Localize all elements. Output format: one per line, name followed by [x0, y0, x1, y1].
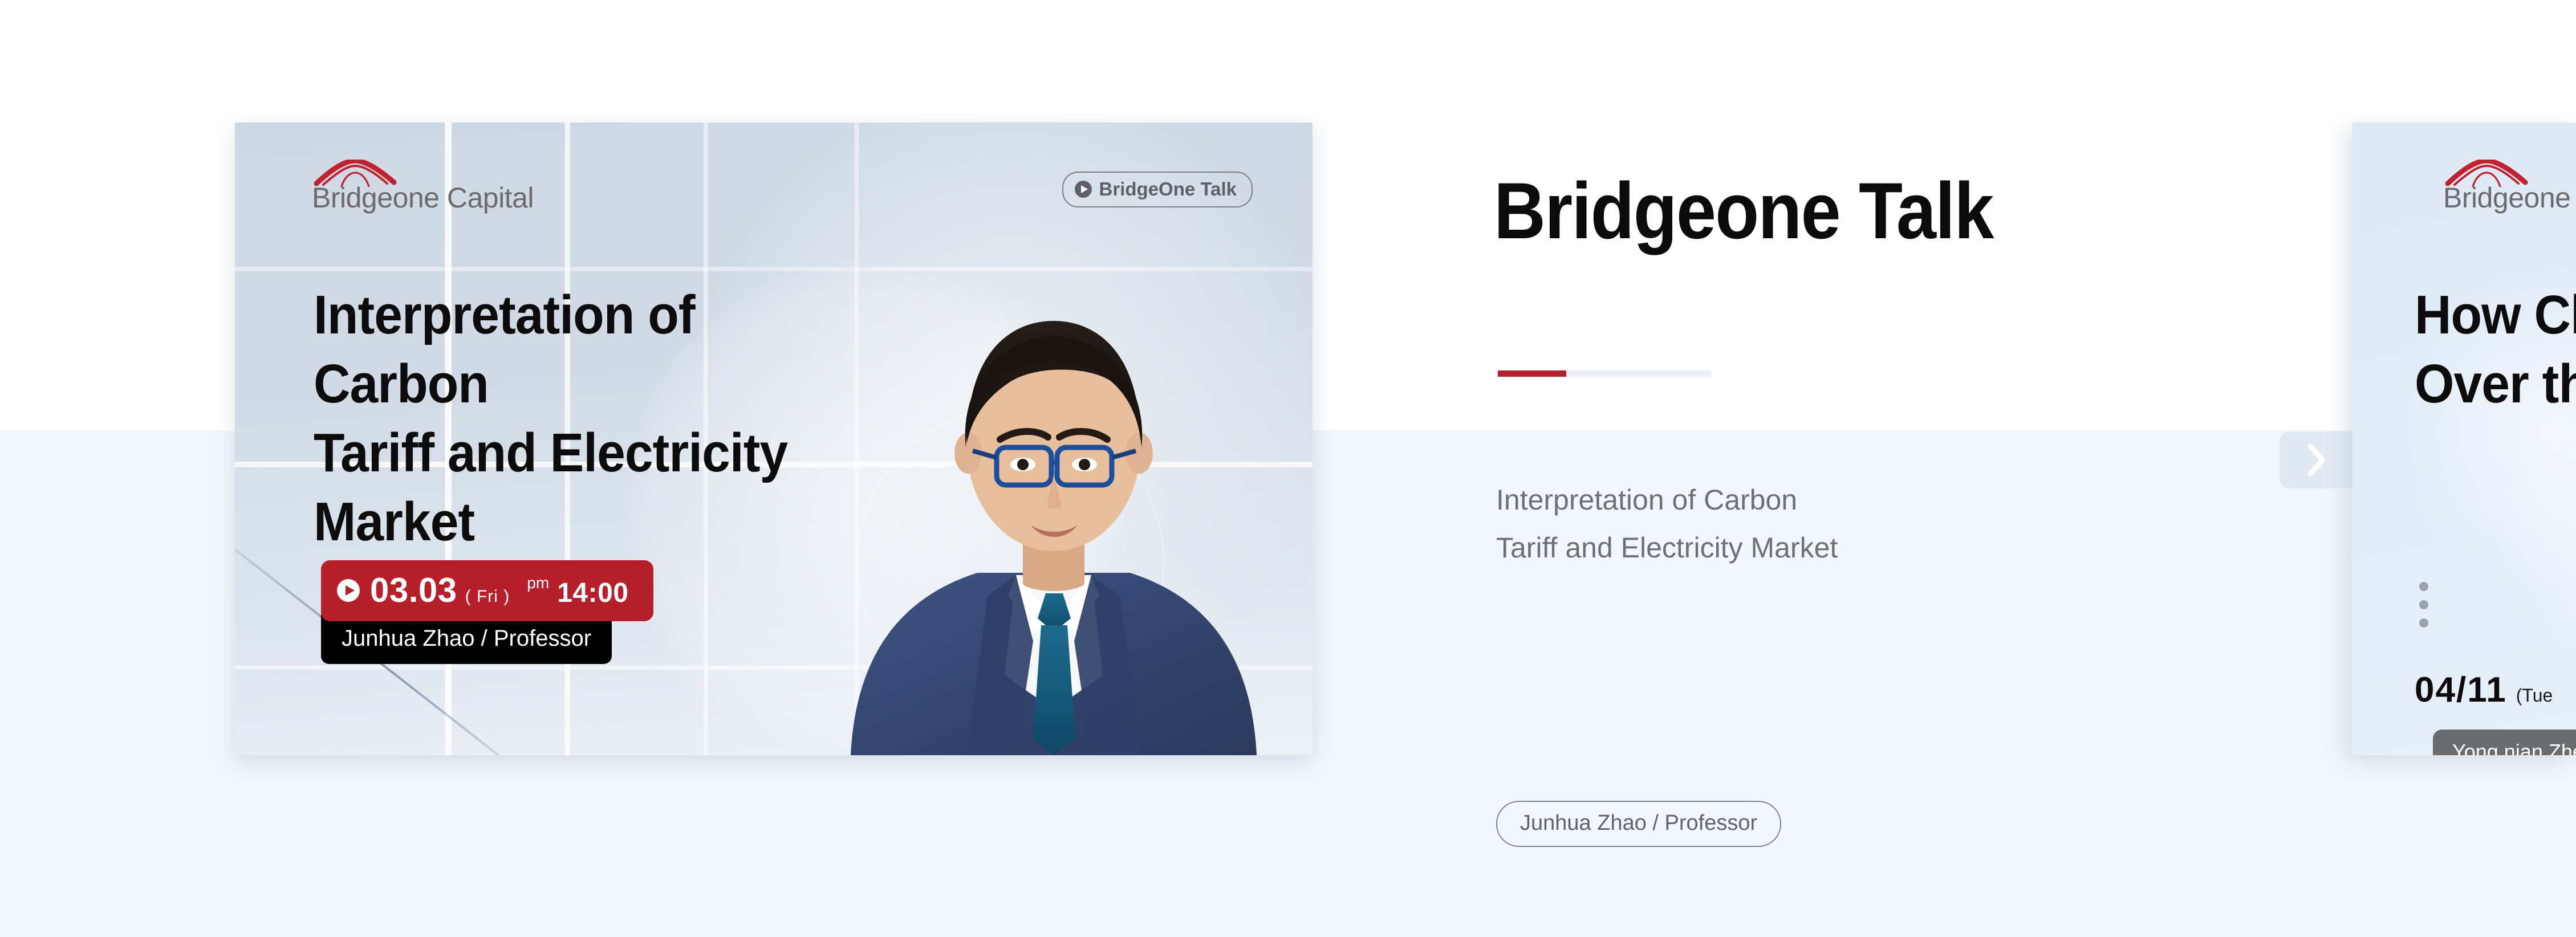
card-date-time: 14:00 [557, 577, 628, 609]
talk-badge-label: BridgeOne Talk [1099, 178, 1237, 200]
event-info-panel: Bridgeone Talk Interpretation of Carbon … [1494, 171, 2235, 251]
peek-card-speaker: Yong nian Zhe [2433, 730, 2576, 755]
event-subtitle-line-1: Interpretation of Carbon [1496, 476, 2152, 524]
card-date-plate: 03.03 ( Fri ) pm 14:00 [321, 560, 653, 621]
card-brand-logo: Bridgeone Capital [312, 160, 529, 212]
event-carousel: Bridgeone Capital BridgeOne Talk Interpr… [0, 0, 2576, 937]
card-title-line-3: Market [314, 488, 844, 557]
dot [2419, 582, 2428, 591]
card-date-day: 03.03 [370, 571, 457, 610]
peek-card-date-weekday: (Tue [2516, 685, 2553, 706]
brand-name: Bridgeone Capital [312, 184, 529, 212]
card-title-line-1: Interpretation of Carbon [314, 281, 844, 419]
chevron-right-icon [2303, 442, 2329, 478]
carousel-progress-fill [1498, 370, 1566, 377]
card-title-line-2: Tariff and Electricity [314, 419, 844, 488]
card-date-ampm: pm [527, 574, 549, 592]
peek-card-date-day: 04/11 [2415, 670, 2507, 710]
carousel-progress-bar[interactable] [1498, 370, 1712, 377]
page-title: Bridgeone Talk [1494, 171, 2161, 251]
speaker-tag: Junhua Zhao / Professor [1496, 801, 1781, 847]
speaker-portrait [845, 276, 1261, 755]
event-subtitle: Interpretation of Carbon Tariff and Elec… [1496, 476, 2152, 572]
card-date-weekday: ( Fri ) [465, 587, 510, 606]
peek-card-title-line-1: How Ch [2415, 281, 2576, 350]
more-vertical-icon [2419, 582, 2428, 637]
carousel-next-button[interactable] [2280, 431, 2352, 488]
dot [2419, 600, 2428, 609]
peek-card-title: How Ch Over th [2415, 281, 2576, 419]
peek-brand-name: Bridgeone Ca [2443, 184, 2576, 212]
card-speaker-plate: Junhua Zhao / Professor [321, 614, 612, 664]
peek-brand-logo: Bridgeone Ca [2443, 160, 2576, 212]
event-card-active[interactable]: Bridgeone Capital BridgeOne Talk Interpr… [235, 123, 1313, 755]
event-card-next[interactable]: Bridgeone Ca How Ch Over th 04/11 (Tue Y… [2352, 123, 2576, 755]
event-subtitle-line-2: Tariff and Electricity Market [1496, 524, 2152, 572]
card-title: Interpretation of Carbon Tariff and Elec… [314, 281, 844, 557]
peek-card-date: 04/11 (Tue [2415, 670, 2553, 710]
play-circle-icon [337, 579, 360, 602]
play-circle-icon [1075, 181, 1092, 198]
dot [2419, 618, 2428, 628]
talk-badge[interactable]: BridgeOne Talk [1062, 172, 1253, 207]
peek-card-title-line-2: Over th [2415, 350, 2576, 419]
